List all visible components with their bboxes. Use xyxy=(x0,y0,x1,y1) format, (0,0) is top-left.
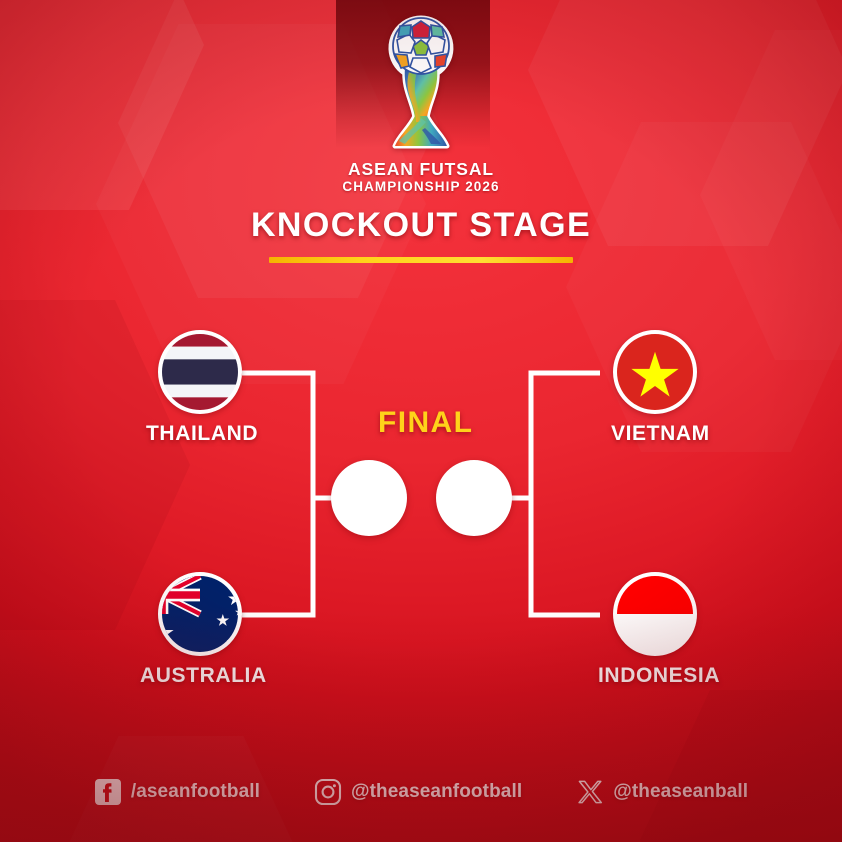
team-name-label: INDONESIA xyxy=(598,664,720,688)
finalist-slot-left[interactable] xyxy=(331,460,407,536)
tournament-bracket: THAILAND xyxy=(0,0,842,842)
social-footer: /aseanfootball @theaseanfootball @thease… xyxy=(0,778,842,806)
social-handle: @theaseanfootball xyxy=(351,781,522,803)
team-name-label: VIETNAM xyxy=(611,422,710,446)
flag-indonesia-icon xyxy=(613,572,697,656)
x-twitter-icon xyxy=(576,778,604,806)
social-handle: /aseanfootball xyxy=(131,781,260,803)
social-instagram[interactable]: @theaseanfootball xyxy=(314,778,522,806)
flag-thailand-icon xyxy=(158,330,242,414)
social-x-twitter[interactable]: @theaseanball xyxy=(576,778,748,806)
social-facebook[interactable]: /aseanfootball xyxy=(94,778,260,806)
final-match-label: FINAL xyxy=(378,406,473,440)
social-handle: @theaseanball xyxy=(613,781,748,803)
flag-australia-icon xyxy=(158,572,242,656)
team-name-label: AUSTRALIA xyxy=(140,664,267,688)
team-name-label: THAILAND xyxy=(146,422,258,446)
flag-vietnam-icon xyxy=(613,330,697,414)
instagram-icon xyxy=(314,778,342,806)
facebook-icon xyxy=(94,778,122,806)
finalist-slot-right[interactable] xyxy=(436,460,512,536)
knockout-stage-poster: ASEAN FUTSAL CHAMPIONSHIP 2026 KNOCKOUT … xyxy=(0,0,842,842)
